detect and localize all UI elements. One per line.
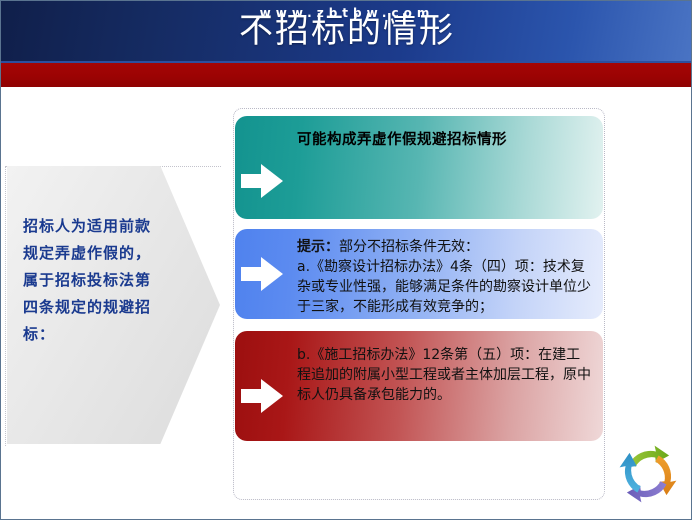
right-arrow-icon (241, 379, 285, 413)
content-block-blue[interactable]: 提示：部分不招标条件无效： a.《勘察设计招标办法》4条（四）项：技术复杂或专业… (235, 229, 603, 319)
content-block-blue-body: 提示：部分不招标条件无效： a.《勘察设计招标办法》4条（四）项：技术复杂或专业… (297, 237, 591, 317)
hint-rest: 部分不招标条件无效： (339, 239, 479, 255)
website-band (1, 63, 692, 87)
content-block-blue-text: a.《勘察设计招标办法》4条（四）项：技术复杂或专业性强，能够满足条件的勘察设计… (297, 259, 591, 315)
hint-label: 提示： (297, 239, 339, 255)
content-block-teal[interactable]: 可能构成弄虚作假规避招标情形 (235, 116, 603, 219)
left-callout-text: 招标人为适用前款规定弄虚作假的，属于招标投标法第四条规定的规避招标： (23, 213, 157, 348)
right-arrow-icon (241, 164, 285, 198)
content-block-red[interactable]: b.《施工招标办法》12条第（五）项：在建工程追加的附属小型工程或者主体加层工程… (235, 331, 603, 441)
website-url-text: www.zbtbw.com (1, 1, 692, 25)
content-block-teal-text: 可能构成弄虚作假规避招标情形 (297, 129, 591, 151)
recycle-arrows-logo (615, 441, 681, 507)
content-block-red-text: b.《施工招标办法》12条第（五）项：在建工程追加的附属小型工程或者主体加层工程… (297, 345, 591, 405)
slide-canvas: 不招标的情形 www.zbtbw.com 招标人为适用前款规定弄虚作假的，属于招… (0, 0, 692, 520)
right-arrow-icon (241, 257, 285, 291)
